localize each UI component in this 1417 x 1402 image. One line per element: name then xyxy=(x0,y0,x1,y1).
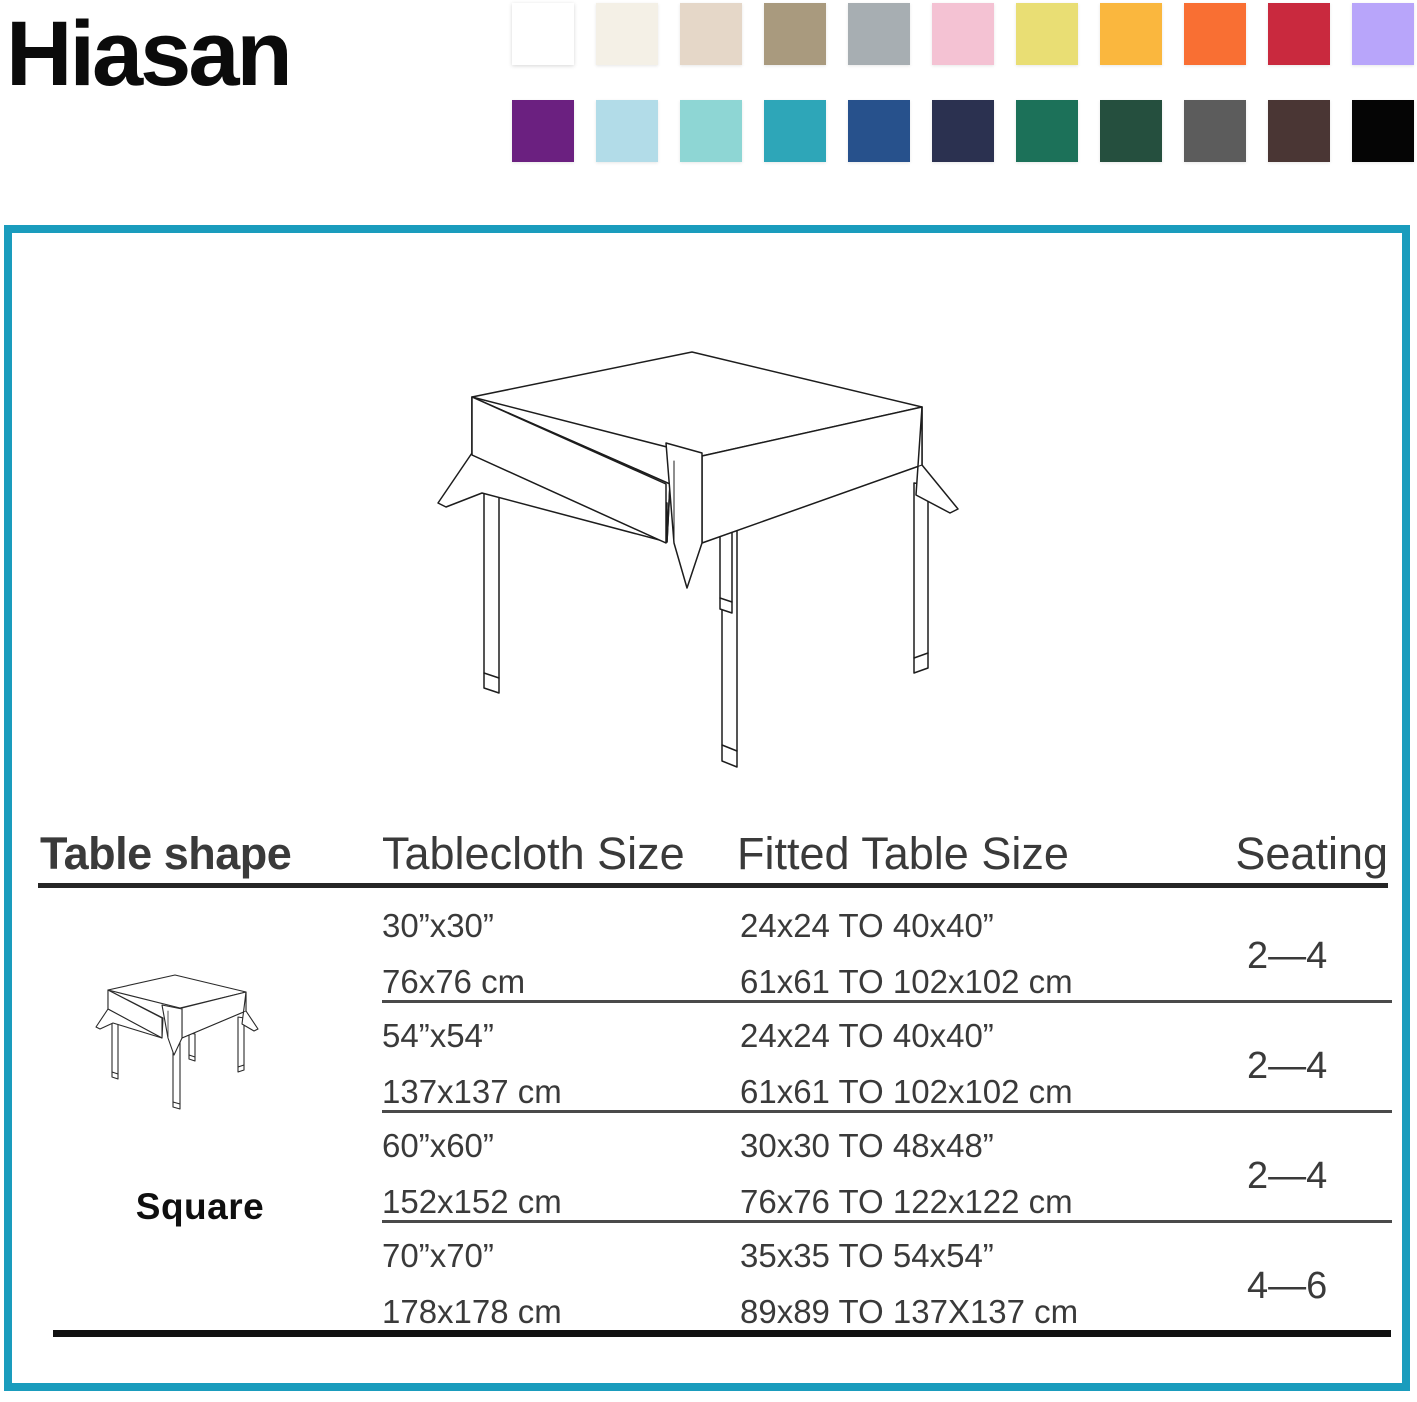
shape-label: Square xyxy=(40,1186,360,1228)
cell-fitted-size-cm: 61x61 TO 102x102 cm xyxy=(740,965,1073,998)
column-header-seating: Seating xyxy=(1235,831,1388,876)
cell-seating: 4—6 xyxy=(1247,1267,1327,1305)
header-divider xyxy=(38,883,1388,888)
cell-fitted-size-inches: 24x24 TO 40x40” xyxy=(740,909,994,942)
table-header-row: Table shape Tablecloth Size Fitted Table… xyxy=(12,808,1410,876)
color-swatch-dark-navy[interactable] xyxy=(932,100,994,162)
color-swatch-lavender[interactable] xyxy=(1352,3,1414,65)
color-swatch-brown[interactable] xyxy=(1268,100,1330,162)
table-bottom-divider xyxy=(53,1330,1391,1337)
column-header-table-shape: Table shape xyxy=(40,831,291,876)
color-swatch-charcoal-grey[interactable] xyxy=(1184,100,1246,162)
cell-tablecloth-size-inches: 54”x54” xyxy=(382,1019,494,1052)
cell-tablecloth-size-inches: 60”x60” xyxy=(382,1129,494,1162)
shape-cell: Square xyxy=(40,973,360,1228)
color-swatch-amber[interactable] xyxy=(1100,3,1162,65)
table-row: 70”x70”178x178 cm35x35 TO 54x54”89x89 TO… xyxy=(12,1223,1410,1335)
cell-seating: 2—4 xyxy=(1247,1157,1327,1195)
color-swatch-red[interactable] xyxy=(1268,3,1330,65)
color-swatch-panel xyxy=(512,3,1414,162)
color-swatch-teal[interactable] xyxy=(764,100,826,162)
color-swatch-beige[interactable] xyxy=(680,3,742,65)
color-swatch-ivory[interactable] xyxy=(596,3,658,65)
color-swatch-navy-blue[interactable] xyxy=(848,100,910,162)
color-swatch-emerald[interactable] xyxy=(1016,100,1078,162)
cell-tablecloth-size-cm: 137x137 cm xyxy=(382,1075,562,1108)
color-swatch-yellow[interactable] xyxy=(1016,3,1078,65)
cell-fitted-size-inches: 30x30 TO 48x48” xyxy=(740,1129,994,1162)
cell-seating: 2—4 xyxy=(1247,937,1327,975)
cell-tablecloth-size-inches: 30”x30” xyxy=(382,909,494,942)
swatch-row-1 xyxy=(512,3,1414,65)
color-swatch-purple[interactable] xyxy=(512,100,574,162)
color-swatch-light-blue[interactable] xyxy=(596,100,658,162)
cell-tablecloth-size-cm: 76x76 cm xyxy=(382,965,525,998)
cell-fitted-size-inches: 35x35 TO 54x54” xyxy=(740,1239,994,1272)
square-table-icon xyxy=(70,973,330,1158)
brand-logo: Hiasan xyxy=(6,8,290,100)
cell-fitted-size-cm: 76x76 TO 122x122 cm xyxy=(740,1185,1073,1218)
color-swatch-khaki[interactable] xyxy=(764,3,826,65)
cell-fitted-size-cm: 89x89 TO 137X137 cm xyxy=(740,1295,1078,1328)
cell-tablecloth-size-cm: 152x152 cm xyxy=(382,1185,562,1218)
color-swatch-pink[interactable] xyxy=(932,3,994,65)
column-header-fitted-table-size: Fitted Table Size xyxy=(737,831,1069,876)
color-swatch-aqua[interactable] xyxy=(680,100,742,162)
cell-seating: 2—4 xyxy=(1247,1047,1327,1085)
color-swatch-black[interactable] xyxy=(1352,100,1414,162)
color-swatch-orange[interactable] xyxy=(1184,3,1246,65)
spec-card: Table shape Tablecloth Size Fitted Table… xyxy=(4,225,1410,1391)
color-swatch-silver-grey[interactable] xyxy=(848,3,910,65)
color-swatch-white[interactable] xyxy=(512,3,574,65)
size-table: Table shape Tablecloth Size Fitted Table… xyxy=(12,808,1410,876)
cell-fitted-size-cm: 61x61 TO 102x102 cm xyxy=(740,1075,1073,1108)
cell-tablecloth-size-inches: 70”x70” xyxy=(382,1239,494,1272)
color-swatch-forest-green[interactable] xyxy=(1100,100,1162,162)
swatch-row-2 xyxy=(512,100,1414,162)
square-table-with-tablecloth-illustration xyxy=(402,343,1002,798)
cell-tablecloth-size-cm: 178x178 cm xyxy=(382,1295,562,1328)
column-header-tablecloth-size: Tablecloth Size xyxy=(382,831,685,876)
cell-fitted-size-inches: 24x24 TO 40x40” xyxy=(740,1019,994,1052)
